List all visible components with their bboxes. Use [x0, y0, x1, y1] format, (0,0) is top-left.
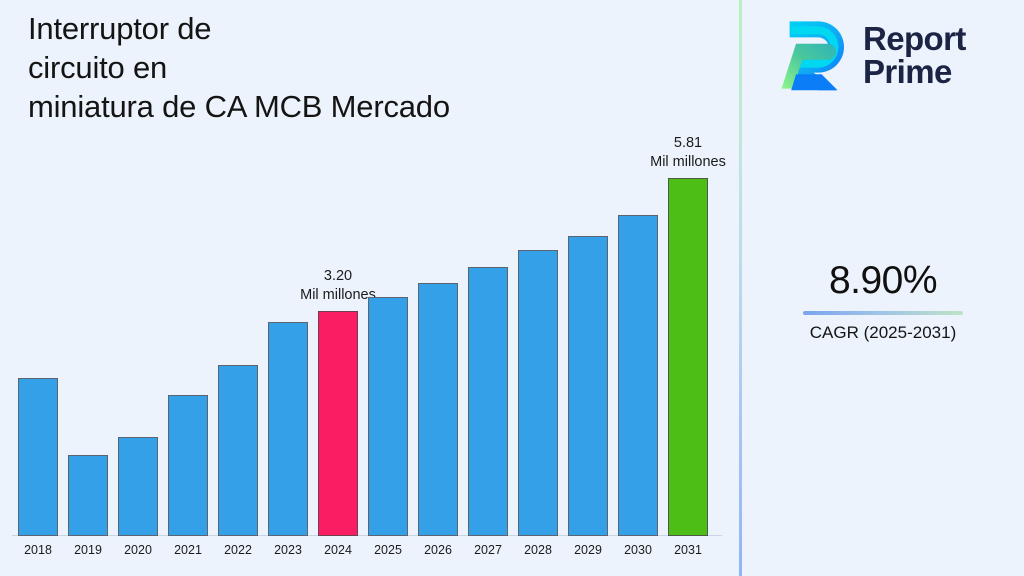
bar-slot-2029	[568, 0, 608, 536]
bar-2020[interactable]	[118, 437, 158, 536]
brand-panel: Report Prime 8.90% CAGR (2025-2031)	[742, 0, 1024, 576]
bar-unit-2031: Mil millones	[650, 153, 726, 172]
bar-unit-2024: Mil millones	[300, 286, 376, 305]
cagr-value: 8.90%	[742, 258, 1024, 304]
bar-slot-2026	[418, 0, 458, 536]
x-tick-2018: 2018	[18, 540, 58, 560]
bar-slot-2030	[618, 0, 658, 536]
x-tick-2023: 2023	[268, 540, 308, 560]
bar-2026[interactable]	[418, 283, 458, 536]
brand-line-1: Report	[863, 22, 966, 55]
cagr-caption: CAGR (2025-2031)	[742, 321, 1024, 344]
bar-value-label-2031: 5.81Mil millones	[650, 134, 726, 172]
bar-2024[interactable]	[318, 311, 358, 536]
x-tick-2026: 2026	[418, 540, 458, 560]
bar-chart-plot-area: 3.20Mil millones5.81Mil millones	[0, 0, 740, 536]
bar-2023[interactable]	[268, 322, 308, 536]
bar-slot-2031: 5.81Mil millones	[668, 0, 708, 536]
x-axis-tick-labels: 2018201920202021202220232024202520262027…	[18, 540, 718, 570]
x-tick-2029: 2029	[568, 540, 608, 560]
infographic-page: Interruptor de circuito en miniatura de …	[0, 0, 1024, 576]
x-tick-2019: 2019	[68, 540, 108, 560]
x-tick-2021: 2021	[168, 540, 208, 560]
brand-wordmark: Report Prime	[863, 22, 966, 88]
bar-value-2024: 3.20	[300, 267, 376, 286]
chart-panel: Interruptor de circuito en miniatura de …	[0, 0, 740, 576]
bar-slot-2027	[468, 0, 508, 536]
x-tick-2025: 2025	[368, 540, 408, 560]
bar-2018[interactable]	[18, 378, 58, 536]
x-tick-2020: 2020	[118, 540, 158, 560]
x-tick-2028: 2028	[518, 540, 558, 560]
bar-slot-2022	[218, 0, 258, 536]
x-tick-2022: 2022	[218, 540, 258, 560]
bar-series: 3.20Mil millones5.81Mil millones	[18, 0, 718, 536]
x-tick-2024: 2024	[318, 540, 358, 560]
bar-2025[interactable]	[368, 297, 408, 536]
report-prime-logo-icon	[772, 18, 852, 92]
bar-value-2031: 5.81	[650, 134, 726, 153]
x-tick-2027: 2027	[468, 540, 508, 560]
bar-2031[interactable]	[668, 178, 708, 536]
bar-slot-2018	[18, 0, 58, 536]
bar-2021[interactable]	[168, 395, 208, 536]
brand-line-2: Prime	[863, 55, 966, 88]
bar-value-label-2024: 3.20Mil millones	[300, 267, 376, 305]
bar-slot-2024: 3.20Mil millones	[318, 0, 358, 536]
bar-slot-2020	[118, 0, 158, 536]
bar-slot-2028	[518, 0, 558, 536]
bar-slot-2021	[168, 0, 208, 536]
bar-slot-2019	[68, 0, 108, 536]
bar-2019[interactable]	[68, 455, 108, 536]
bar-slot-2025	[368, 0, 408, 536]
bar-2028[interactable]	[518, 250, 558, 536]
brand-lockup[interactable]: Report Prime	[772, 12, 1007, 98]
cagr-block: 8.90% CAGR (2025-2031)	[742, 258, 1024, 344]
cagr-divider-rule	[803, 311, 963, 315]
bar-2029[interactable]	[568, 236, 608, 536]
x-tick-2030: 2030	[618, 540, 658, 560]
bar-2030[interactable]	[618, 215, 658, 536]
x-tick-2031: 2031	[668, 540, 708, 560]
bar-2022[interactable]	[218, 365, 258, 536]
bar-2027[interactable]	[468, 267, 508, 536]
